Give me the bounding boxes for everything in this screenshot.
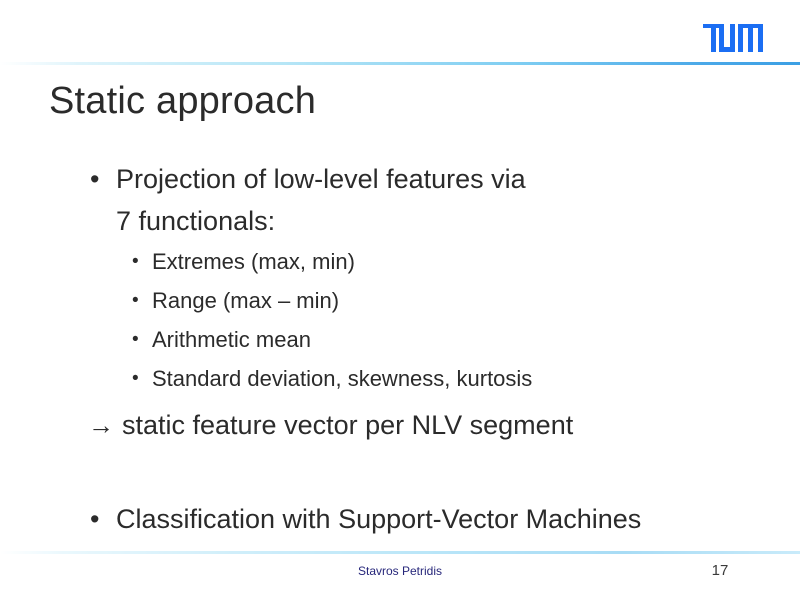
bullet-marker: • bbox=[90, 158, 99, 200]
bullet-marker: • bbox=[132, 281, 139, 320]
presentation-slide: Static approach • Projection of low-leve… bbox=[0, 0, 800, 599]
bullet-item: • Projection of low-level features via bbox=[0, 158, 800, 200]
page-title: Static approach bbox=[49, 78, 316, 124]
bullet-item: • Extremes (max, min) bbox=[0, 242, 800, 281]
page-number: 17 bbox=[700, 562, 740, 579]
bullet-text: Classification with Support-Vector Machi… bbox=[116, 504, 641, 534]
bullet-text: Extremes (max, min) bbox=[152, 249, 355, 274]
header-divider bbox=[0, 62, 800, 65]
bullet-text: Arithmetic mean bbox=[152, 327, 311, 352]
bullet-item: • Arithmetic mean bbox=[0, 320, 800, 359]
bullet-item: • Standard deviation, skewness, kurtosis bbox=[0, 359, 800, 398]
bullet-marker: • bbox=[90, 498, 99, 540]
slide-body: • Projection of low-level features via 7… bbox=[0, 158, 800, 540]
conclusion-line: → static feature vector per NLV segment bbox=[0, 404, 800, 446]
bullet-marker: • bbox=[132, 359, 139, 398]
bullet-item: • Range (max – min) bbox=[0, 281, 800, 320]
footer-author: Stavros Petridis bbox=[0, 564, 800, 578]
bullet-item: • Classification with Support-Vector Mac… bbox=[0, 498, 800, 540]
bullet-text: Standard deviation, skewness, kurtosis bbox=[152, 366, 532, 391]
arrow-right-icon: → bbox=[88, 404, 114, 446]
bullet-text: Projection of low-level features via bbox=[116, 164, 526, 194]
bullet-marker: • bbox=[132, 320, 139, 359]
bullet-marker: • bbox=[132, 242, 139, 281]
conclusion-text: static feature vector per NLV segment bbox=[122, 410, 573, 440]
spacer bbox=[0, 446, 800, 498]
bullet-text: Range (max – min) bbox=[152, 288, 339, 313]
bullet-text: 7 functionals: bbox=[116, 206, 275, 236]
bullet-item-continuation: 7 functionals: bbox=[0, 200, 800, 242]
footer-divider bbox=[0, 551, 800, 554]
tum-logo-icon bbox=[703, 24, 763, 52]
